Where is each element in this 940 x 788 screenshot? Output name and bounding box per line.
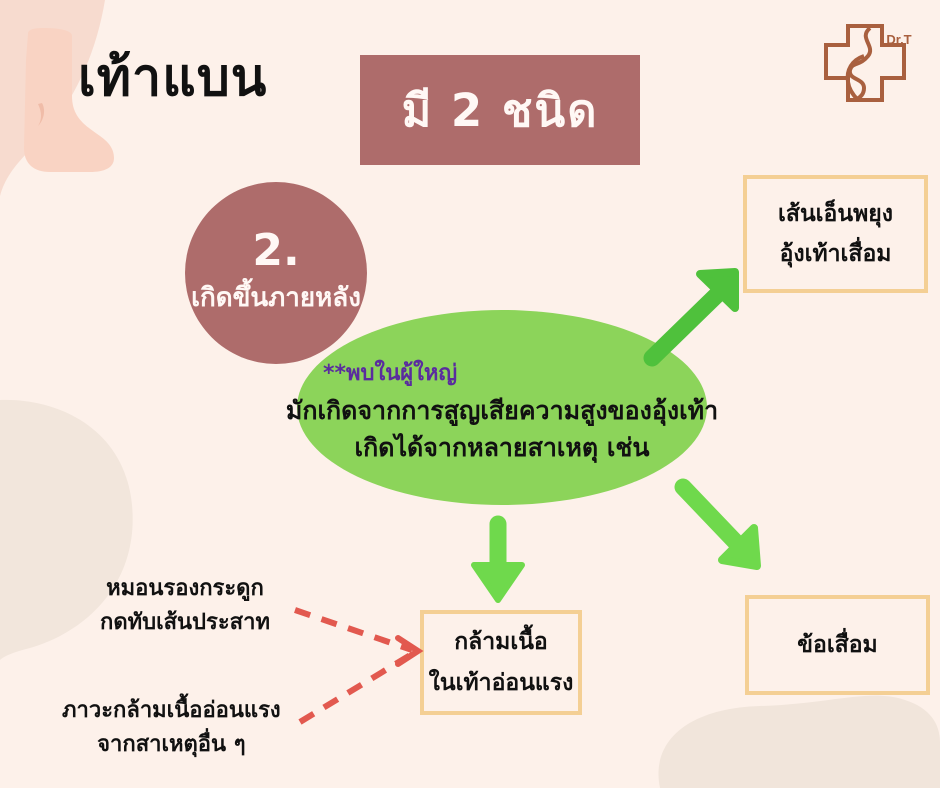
outcome-box-muscle: กล้ามเนื้อ ในเท้าอ่อนแรง — [420, 610, 582, 715]
outcome-box-joint: ข้อเสื่อม — [745, 595, 930, 695]
caption-disc-line-2: กดทับเส้นประสาท — [100, 606, 270, 640]
banner-two-types: มี 2 ชนิด — [360, 55, 640, 165]
description-line-1: มักเกิดจากการสูญเสียความสูงของอุ้งเท้า — [286, 392, 718, 430]
caption-muscle-weakness: ภาวะกล้ามเนื้ออ่อนแรง จากสาเหตุอื่น ๆ — [62, 694, 281, 762]
caption-weak-line-1: ภาวะกล้ามเนื้ออ่อนแรง — [62, 694, 281, 728]
adult-note: **พบในผู้ใหญ่ — [323, 355, 457, 390]
outcome-tendon-line-1: เส้นเอ็นพยุง — [778, 194, 893, 234]
type-number-label: เกิดขึ้นภายหลัง — [191, 277, 361, 318]
outcome-box-tendon: เส้นเอ็นพยุง อุ้งเท้าเสื่อม — [743, 175, 928, 293]
description-ellipse: **พบในผู้ใหญ่ มักเกิดจากการสูญเสียความสู… — [297, 310, 707, 505]
outcome-joint-line-1: ข้อเสื่อม — [797, 625, 877, 665]
logo-text: Dr.T — [886, 32, 911, 47]
type-number-circle: 2. เกิดขึ้นภายหลัง — [185, 182, 367, 364]
banner-label: มี 2 ชนิด — [402, 74, 599, 146]
outcome-tendon-line-2: อุ้งเท้าเสื่อม — [780, 234, 892, 274]
dr-t-logo: Dr.T — [816, 12, 926, 117]
caption-disc-compression: หมอนรองกระดูก กดทับเส้นประสาท — [100, 572, 270, 640]
caption-weak-line-2: จากสาเหตุอื่น ๆ — [62, 728, 281, 762]
page-title: เท้าแบน — [78, 52, 267, 104]
caption-disc-line-1: หมอนรองกระดูก — [100, 572, 270, 606]
type-number: 2. — [252, 228, 299, 274]
description-line-2: เกิดได้จากหลายสาเหตุ เช่น — [355, 429, 650, 467]
outcome-muscle-line-1: กล้ามเนื้อ — [454, 622, 548, 662]
outcome-muscle-line-2: ในเท้าอ่อนแรง — [429, 663, 574, 703]
